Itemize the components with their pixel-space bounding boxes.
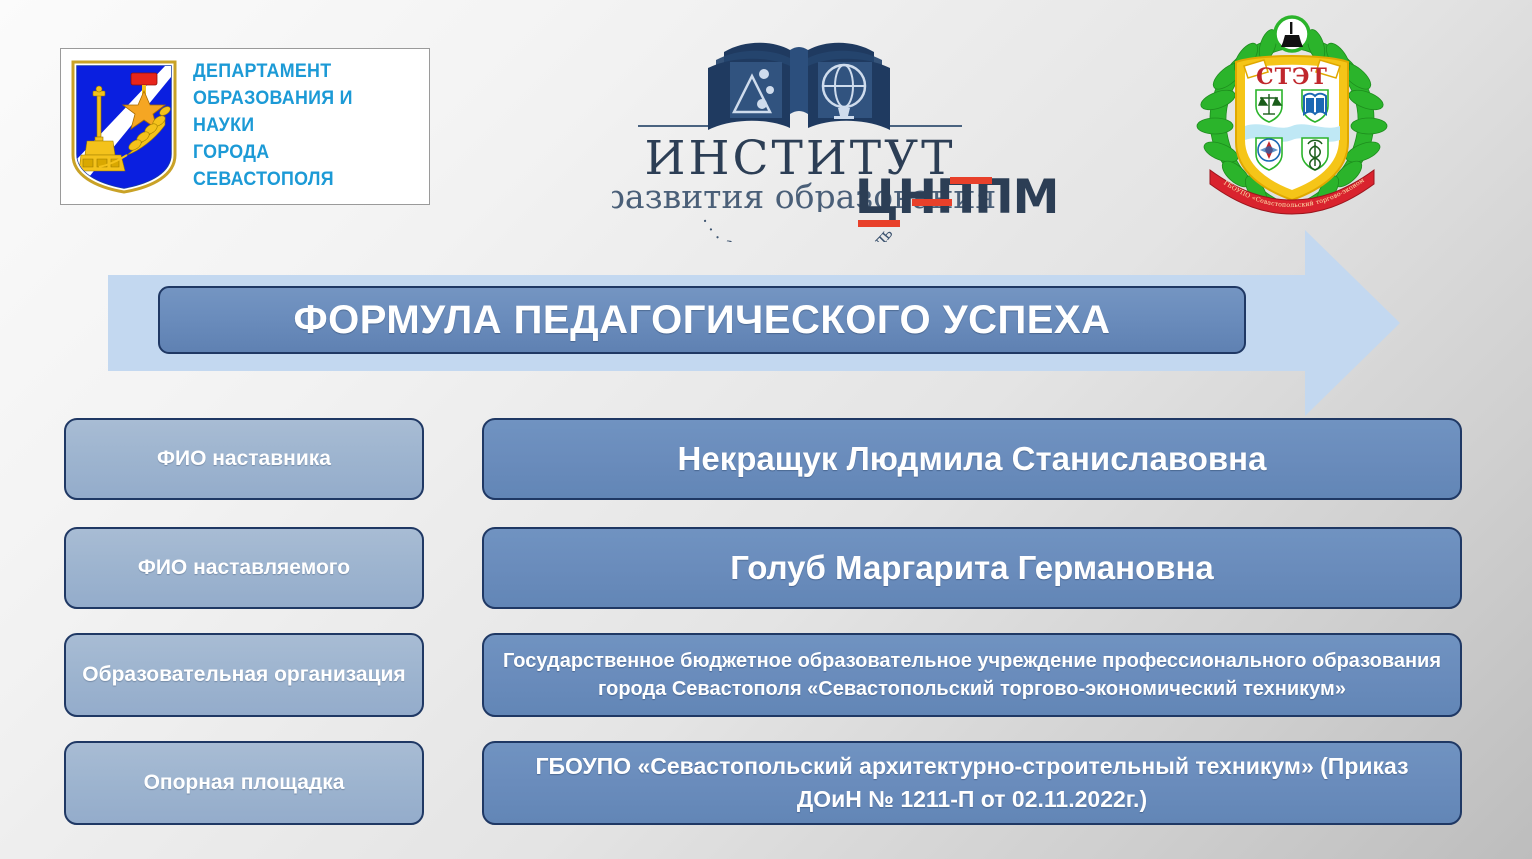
department-logo-line-1: ДЕПАРТАМЕНТ [193, 59, 415, 86]
institute-of-education-development-logo: ИНСТИТУТ развития образования · · · 1887… [612, 22, 1012, 212]
row-value-support-site: ГБОУПО «Севастопольский архитектурно-стр… [482, 741, 1462, 825]
row-value-mentee-name: Голуб Маргарита Германовна [482, 527, 1462, 609]
row-label-mentor-name: ФИО наставника [64, 418, 424, 500]
row-label-support-site: Опорная площадка [64, 741, 424, 825]
cnppm-accent-bar-mid [912, 199, 952, 206]
sevastopol-coat-of-arms-icon [69, 59, 179, 195]
row-value-educational-organization: Государственное бюджетное образовательно… [482, 633, 1462, 717]
department-logo-line-2: ОБРАЗОВАНИЯ И НАУКИ [193, 86, 415, 140]
slide-root: ДЕПАРТАМЕНТ ОБРАЗОВАНИЯ И НАУКИ ГОРОДА С… [0, 0, 1532, 859]
row-value-mentor-name: Некращук Людмила Станиславовна [482, 418, 1462, 500]
department-of-education-logo: ДЕПАРТАМЕНТ ОБРАЗОВАНИЯ И НАУКИ ГОРОДА С… [60, 48, 430, 205]
row-label-text: Образовательная организация [72, 661, 415, 690]
row-label-text: Опорная площадка [134, 769, 355, 798]
row-value-text: Некращук Людмила Станиславовна [662, 436, 1283, 483]
cnppm-accent-bar-left [858, 220, 900, 227]
row-label-mentee-name: ФИО наставляемого [64, 527, 424, 609]
row-label-text: ФИО наставляемого [128, 554, 360, 583]
row-value-text: ГБОУПО «Севастопольский архитектурно-стр… [484, 750, 1460, 815]
cnppm-accent-bar-top [950, 177, 992, 184]
department-logo-line-3: ГОРОДА СЕВАСТОПОЛЯ [193, 140, 415, 194]
slide-title-box: ФОРМУЛА ПЕДАГОГИЧЕСКОГО УСПЕХА [158, 286, 1246, 354]
stet-technical-college-emblem: СТЭТ [1192, 14, 1392, 219]
page-title: ФОРМУЛА ПЕДАГОГИЧЕСКОГО УСПЕХА [294, 298, 1111, 343]
row-value-text: Государственное бюджетное образовательно… [484, 647, 1460, 704]
row-label-text: ФИО наставника [147, 445, 341, 474]
department-logo-text: ДЕПАРТАМЕНТ ОБРАЗОВАНИЯ И НАУКИ ГОРОДА С… [193, 59, 415, 194]
svg-text:СТЭТ: СТЭТ [1256, 64, 1328, 90]
row-value-text: Голуб Маргарита Германовна [714, 545, 1230, 592]
row-label-educational-organization: Образовательная организация [64, 633, 424, 717]
